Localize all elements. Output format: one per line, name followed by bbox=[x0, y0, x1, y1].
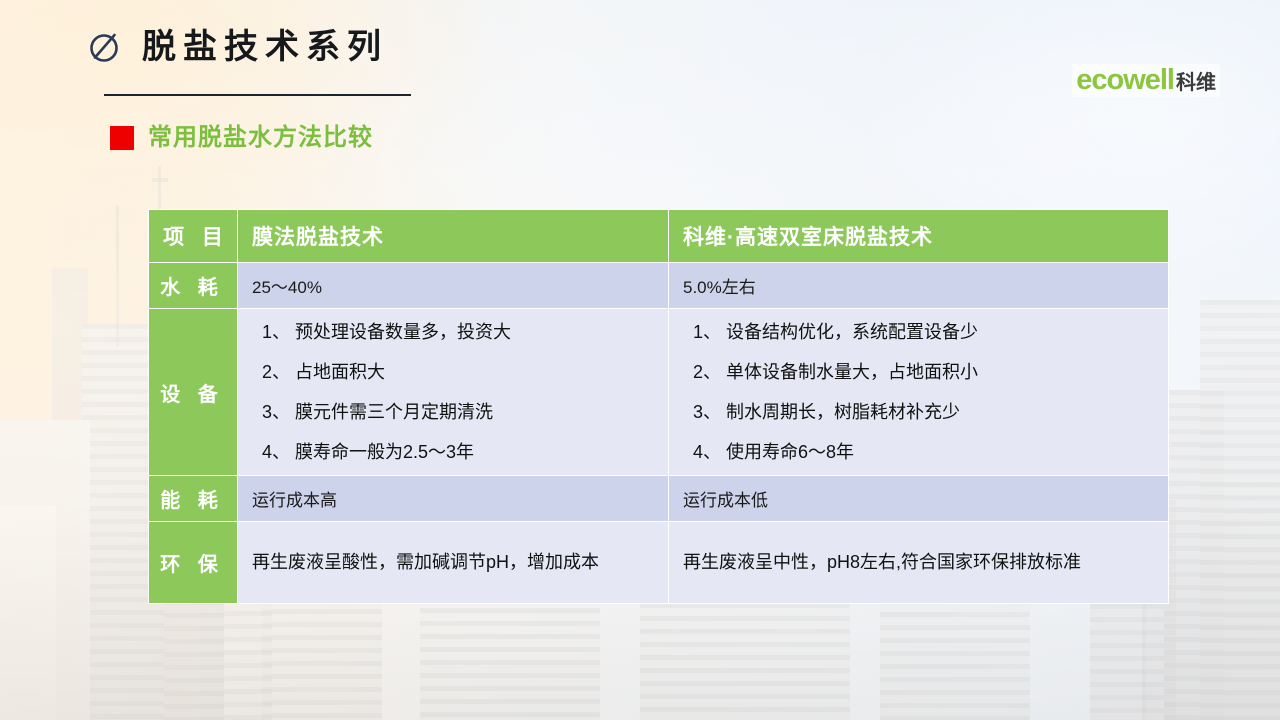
comparison-table: 项 目 膜法脱盐技术 科维·高速双室床脱盐技术 水 耗 25～40% 5.0%左… bbox=[148, 209, 1169, 604]
table-row: 环 保 再生废液呈酸性，需加碱调节pH，增加成本 再生废液呈中性，pH8左右,符… bbox=[149, 522, 1169, 604]
list-item: 2、 占地面积大 bbox=[252, 363, 654, 381]
table-row: 水 耗 25～40% 5.0%左右 bbox=[149, 263, 1169, 309]
section-subtitle: 常用脱盐水方法比较 bbox=[148, 126, 373, 150]
cell-equipment-membrane: 1、 预处理设备数量多，投资大 2、 占地面积大 3、 膜元件需三个月定期清洗 … bbox=[238, 309, 669, 476]
equipment-ecowell-list: 1、 设备结构优化，系统配置设备少 2、 单体设备制水量大，占地面积小 3、 制… bbox=[683, 309, 1154, 475]
list-item: 3、 膜元件需三个月定期清洗 bbox=[252, 403, 654, 421]
brand-logo: ecowell 科维 bbox=[1072, 64, 1220, 97]
list-item: 4、 膜寿命一般为2.5～3年 bbox=[252, 443, 654, 461]
header-ecowell: 科维·高速双室床脱盐技术 bbox=[669, 210, 1169, 263]
cell-equipment-ecowell: 1、 设备结构优化，系统配置设备少 2、 单体设备制水量大，占地面积小 3、 制… bbox=[669, 309, 1169, 476]
slashed-circle-icon bbox=[88, 30, 122, 64]
list-item: 1、 设备结构优化，系统配置设备少 bbox=[683, 323, 1154, 341]
environment-ecowell-text: 再生废液呈中性，pH8左右,符合国家环保排放标准 bbox=[683, 541, 1154, 584]
cell-water-ecowell: 5.0%左右 bbox=[669, 263, 1169, 309]
logo-chinese-name: 科维 bbox=[1176, 73, 1216, 93]
header-label: 项 目 bbox=[149, 210, 238, 263]
list-item: 1、 预处理设备数量多，投资大 bbox=[252, 323, 654, 341]
page-title: 脱盐技术系列 bbox=[142, 30, 388, 64]
cell-environment-ecowell: 再生废液呈中性，pH8左右,符合国家环保排放标准 bbox=[669, 522, 1169, 604]
section-subtitle-row: 常用脱盐水方法比较 bbox=[110, 126, 373, 150]
row-label-equipment: 设 备 bbox=[149, 309, 238, 476]
table-header-row: 项 目 膜法脱盐技术 科维·高速双室床脱盐技术 bbox=[149, 210, 1169, 263]
title-underline bbox=[104, 94, 411, 96]
header-membrane: 膜法脱盐技术 bbox=[238, 210, 669, 263]
table-row: 能 耗 运行成本高 运行成本低 bbox=[149, 476, 1169, 522]
environment-membrane-text: 再生废液呈酸性，需加碱调节pH，增加成本 bbox=[252, 541, 654, 584]
cell-water-membrane: 25～40% bbox=[238, 263, 669, 309]
cell-environment-membrane: 再生废液呈酸性，需加碱调节pH，增加成本 bbox=[238, 522, 669, 604]
table-row: 设 备 1、 预处理设备数量多，投资大 2、 占地面积大 3、 膜元件需三个月定… bbox=[149, 309, 1169, 476]
row-label-environment: 环 保 bbox=[149, 522, 238, 604]
equipment-membrane-list: 1、 预处理设备数量多，投资大 2、 占地面积大 3、 膜元件需三个月定期清洗 … bbox=[252, 309, 654, 475]
slide-canvas: 脱盐技术系列 常用脱盐水方法比较 ecowell 科维 项 目 膜法脱盐技术 科… bbox=[0, 0, 1280, 720]
cell-energy-ecowell: 运行成本低 bbox=[669, 476, 1169, 522]
slide-title-row: 脱盐技术系列 bbox=[88, 30, 388, 64]
row-label-energy: 能 耗 bbox=[149, 476, 238, 522]
list-item: 4、 使用寿命6～8年 bbox=[683, 443, 1154, 461]
red-square-bullet-icon bbox=[110, 126, 134, 150]
logo-wordmark: ecowell bbox=[1076, 66, 1174, 95]
cell-energy-membrane: 运行成本高 bbox=[238, 476, 669, 522]
list-item: 2、 单体设备制水量大，占地面积小 bbox=[683, 363, 1154, 381]
row-label-water: 水 耗 bbox=[149, 263, 238, 309]
list-item: 3、 制水周期长，树脂耗材补充少 bbox=[683, 403, 1154, 421]
